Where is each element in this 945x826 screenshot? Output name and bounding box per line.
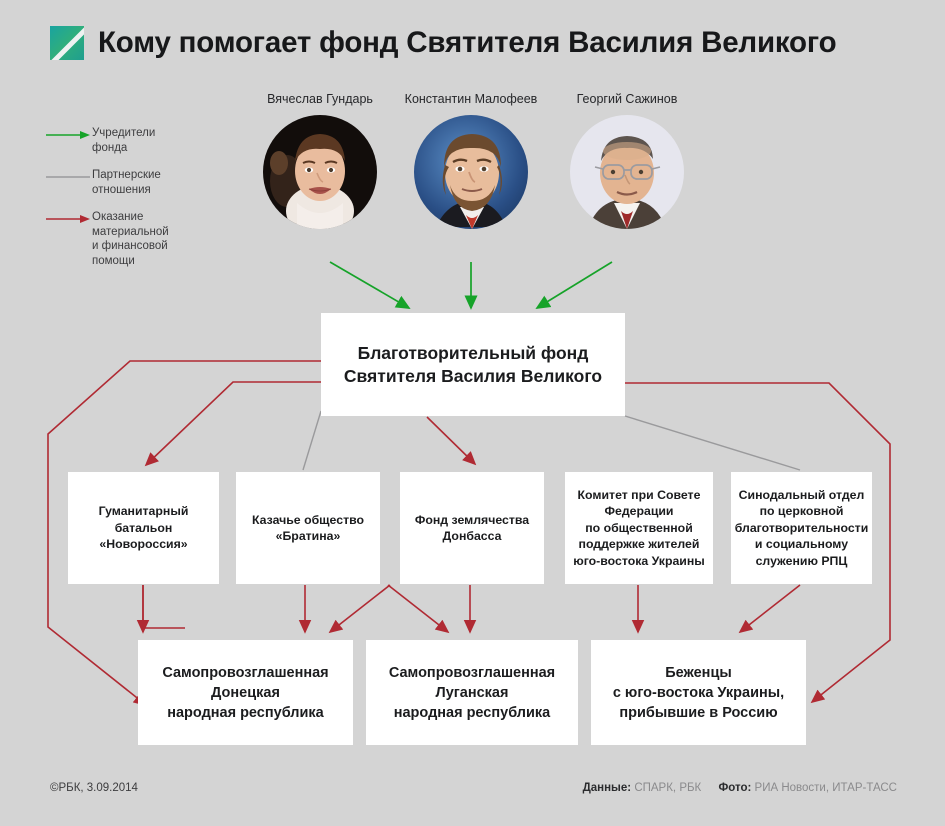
data-source-label: Данные: [583, 782, 632, 794]
page-title: Кому помогает фонд Святителя Василия Вел… [98, 26, 836, 60]
wire-partner-cossack [303, 411, 321, 470]
photo-source-label: Фото: [718, 782, 751, 794]
wire-founder-1 [330, 262, 409, 308]
portrait-konstantin-malofeev [414, 115, 528, 229]
node-lugansk-republic[interactable]: Самопровозглашенная Луганская народная р… [366, 640, 578, 745]
sources: Данные: СПАРК, РБК Фото: РИА Новости, ИТ… [583, 782, 897, 794]
portrait-georgiy-sazhinov [570, 115, 684, 229]
node-synodal-department[interactable]: Синодальный отдел по церковной благотвор… [731, 472, 872, 584]
header: Кому помогает фонд Святителя Василия Вел… [50, 26, 836, 60]
node-charity-fund-label: Благотворительный фонд Святителя Василия… [344, 342, 602, 388]
node-cossack-society-label: Казачье общество «Братина» [252, 512, 364, 545]
node-federation-council-committee[interactable]: Комитет при Совете Федерации по обществе… [565, 472, 713, 584]
rbc-logo-icon [50, 26, 84, 60]
node-humanitarian-battalion[interactable]: Гуманитарный батальон «Новороссия» [68, 472, 219, 584]
green-arrow-icon [44, 128, 92, 142]
legend-label-partnership: Партнерские отношения [92, 168, 161, 197]
legend-item-partnership: Партнерские отношения [44, 168, 204, 197]
person-card-1: Вячеслав Гундарь [260, 92, 380, 229]
infographic-canvas: Кому помогает фонд Святителя Василия Вел… [0, 0, 945, 826]
node-donetsk-republic-label: Самопровозглашенная Донецкая народная ре… [162, 663, 328, 723]
wire-aid-battalion-down [143, 585, 185, 628]
person-name-1: Вячеслав Гундарь [260, 92, 380, 106]
wire-partner-synodal [625, 416, 800, 470]
node-donbass-fund-label: Фонд землячества Донбасса [415, 512, 529, 545]
legend: Учредители фонда Партнерские отношения О… [44, 126, 204, 281]
wire-aid-fund-zemlyach [427, 417, 475, 464]
wire-founder-3 [537, 262, 612, 308]
legend-label-aid: Оказание материальной и финансовой помощ… [92, 210, 169, 268]
node-cossack-society[interactable]: Казачье общество «Братина» [236, 472, 380, 584]
node-refugees[interactable]: Беженцы с юго-востока Украины, прибывшие… [591, 640, 806, 745]
legend-item-aid: Оказание материальной и финансовой помощ… [44, 210, 204, 268]
portrait-vyacheslav-gundar [263, 115, 377, 229]
node-charity-fund[interactable]: Благотворительный фонд Святителя Василия… [321, 313, 625, 416]
data-source-value: СПАРК, РБК [634, 782, 701, 794]
gray-line-icon [44, 170, 92, 184]
node-donbass-fund[interactable]: Фонд землячества Донбасса [400, 472, 544, 584]
person-card-3: Георгий Сажинов [565, 92, 689, 229]
legend-item-founders: Учредители фонда [44, 126, 204, 155]
red-arrow-icon [44, 212, 92, 226]
node-federation-council-committee-label: Комитет при Совете Федерации по обществе… [573, 487, 705, 570]
wire-aid-synodal-refugees [740, 585, 800, 632]
wire-aid-zemlyach-dnr [330, 585, 390, 632]
person-name-2: Константин Малофеев [403, 92, 539, 106]
node-donetsk-republic[interactable]: Самопровозглашенная Донецкая народная ре… [138, 640, 353, 745]
legend-label-founders: Учредители фонда [92, 126, 155, 155]
wire-aid-cossack-lnr [388, 585, 448, 632]
node-lugansk-republic-label: Самопровозглашенная Луганская народная р… [389, 663, 555, 723]
node-refugees-label: Беженцы с юго-востока Украины, прибывшие… [613, 663, 784, 723]
photo-source-value: РИА Новости, ИТАР-ТАСС [755, 782, 897, 794]
person-card-2: Константин Малофеев [403, 92, 539, 229]
person-name-3: Георгий Сажинов [565, 92, 689, 106]
node-humanitarian-battalion-label: Гуманитарный батальон «Новороссия» [99, 503, 189, 553]
node-synodal-department-label: Синодальный отдел по церковной благотвор… [735, 487, 869, 570]
copyright-text: ©РБК, 3.09.2014 [50, 782, 138, 794]
wire-aid-fund-battalion [146, 382, 321, 465]
